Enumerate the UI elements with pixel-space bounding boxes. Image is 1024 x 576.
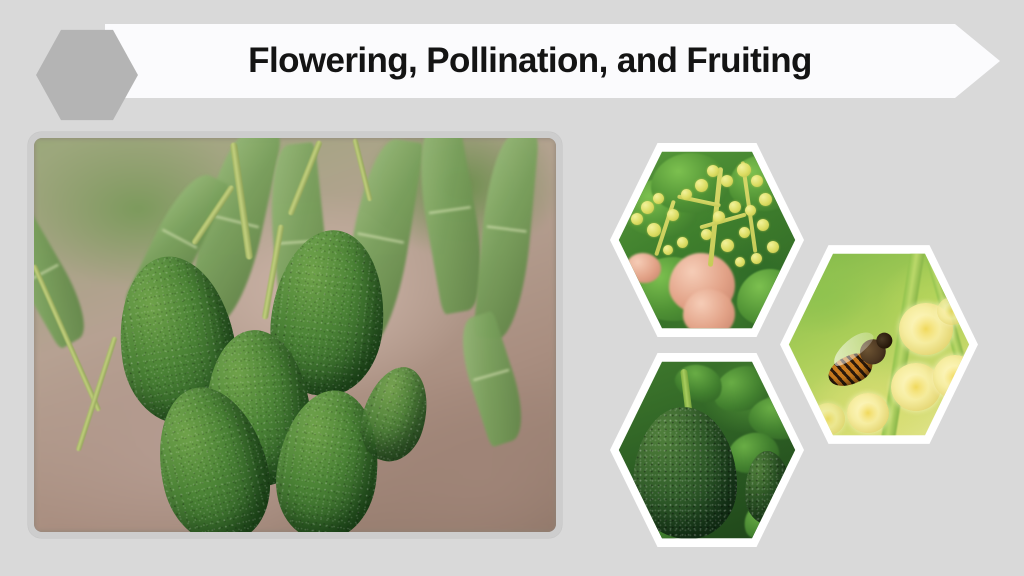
flower-bloom [937, 297, 967, 325]
flower-bud [767, 241, 779, 253]
flower-bud [701, 229, 712, 240]
flower-bud [745, 205, 756, 216]
hand [625, 253, 661, 283]
flower-bud [729, 201, 741, 213]
flowering-photo-art [617, 149, 797, 331]
flower-bud [757, 219, 769, 231]
leaf [737, 269, 797, 327]
flower-bud [721, 175, 733, 187]
flower-bud [713, 211, 725, 223]
flower-bud [681, 189, 692, 200]
flower-bud [759, 193, 772, 206]
hexagon-image-fruiting-photo [617, 359, 797, 541]
flower-bud [667, 209, 679, 221]
fruiting-photo-art [617, 359, 797, 541]
flower-bud [631, 213, 643, 225]
flower-bud [707, 165, 719, 177]
slide-canvas: Flowering, Pollination, and Fruiting [0, 0, 1024, 576]
flower-bud [647, 223, 661, 237]
flower-bloom [933, 355, 971, 399]
flower-bloom [847, 393, 889, 433]
header-banner: Flowering, Pollination, and Fruiting [0, 14, 1024, 106]
avocado-fruit [633, 407, 737, 539]
hexagon-image-flowering[interactable] [608, 140, 806, 340]
hexagon-image-pollination[interactable] [778, 242, 980, 447]
hexagon-image-pollination-photo [787, 251, 971, 438]
flower-bloom [811, 403, 845, 435]
flower-bud [721, 239, 734, 252]
flower-bud [735, 257, 745, 267]
avocado-fruit [745, 451, 791, 525]
main-photo-avocado-cluster [34, 138, 556, 532]
flower-bud [739, 227, 750, 238]
page-title: Flowering, Pollination, and Fruiting [105, 24, 955, 98]
flower-bud [663, 245, 673, 255]
main-photo-frame [28, 132, 562, 538]
flower-bud [751, 175, 763, 187]
pollination-photo-art [787, 251, 971, 438]
hexagon-gallery [600, 132, 1000, 552]
flower-bud [641, 201, 654, 214]
flower-bud [653, 193, 664, 204]
flower-bud [737, 163, 751, 177]
hexagon-image-fruiting[interactable] [608, 350, 806, 550]
flower-bud [751, 253, 762, 264]
flower-bud [695, 179, 708, 192]
flower-bud [677, 237, 688, 248]
hexagon-image-flowering-photo [617, 149, 797, 331]
